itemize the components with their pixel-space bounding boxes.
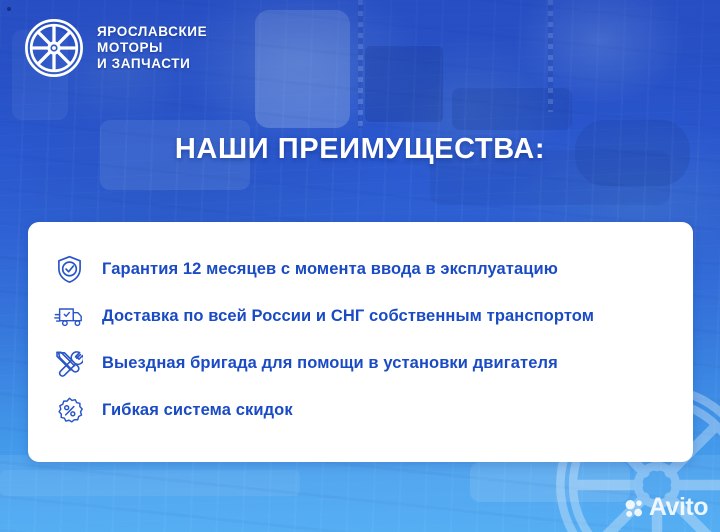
brand-logo: ЯРОСЛАВСКИЕ МОТОРЫ И ЗАПЧАСТИ: [24, 18, 207, 78]
list-item-label: Гарантия 12 месяцев с момента ввода в эк…: [102, 260, 558, 279]
list-item: Выездная бригада для помощи в установки …: [54, 340, 671, 387]
brand-logo-line-2: МОТОРЫ: [97, 40, 207, 56]
list-item: Гибкая система скидок: [54, 387, 671, 434]
percent-badge-icon: [54, 396, 84, 426]
list-item: Доставка по всей России и СНГ собственны…: [54, 293, 671, 340]
corner-dot-artifact: [7, 7, 11, 11]
list-item: Гарантия 12 месяцев с момента ввода в эк…: [54, 246, 671, 293]
list-item-label: Выездная бригада для помощи в установки …: [102, 354, 558, 373]
delivery-truck-icon: [54, 302, 84, 332]
benefits-card: Гарантия 12 месяцев с момента ввода в эк…: [28, 222, 693, 462]
shield-check-icon: [54, 255, 84, 285]
avito-watermark: Avito: [624, 495, 708, 520]
promo-banner: ЯРОСЛАВСКИЕ МОТОРЫ И ЗАПЧАСТИ НАШИ ПРЕИМ…: [0, 0, 720, 532]
wheel-impeller-logo-icon: [24, 18, 84, 78]
avito-label: Avito: [649, 495, 708, 520]
tools-wrench-screwdriver-icon: [54, 349, 84, 379]
page-title: НАШИ ПРЕИМУЩЕСТВА:: [0, 133, 720, 166]
avito-dots-icon: [624, 498, 644, 518]
list-item-label: Гибкая система скидок: [102, 401, 293, 420]
list-item-label: Доставка по всей России и СНГ собственны…: [102, 307, 594, 326]
brand-logo-line-1: ЯРОСЛАВСКИЕ: [97, 24, 207, 40]
brand-logo-line-3: И ЗАПЧАСТИ: [97, 56, 207, 72]
brand-logo-text: ЯРОСЛАВСКИЕ МОТОРЫ И ЗАПЧАСТИ: [97, 24, 207, 72]
benefits-list: Гарантия 12 месяцев с момента ввода в эк…: [54, 246, 671, 434]
